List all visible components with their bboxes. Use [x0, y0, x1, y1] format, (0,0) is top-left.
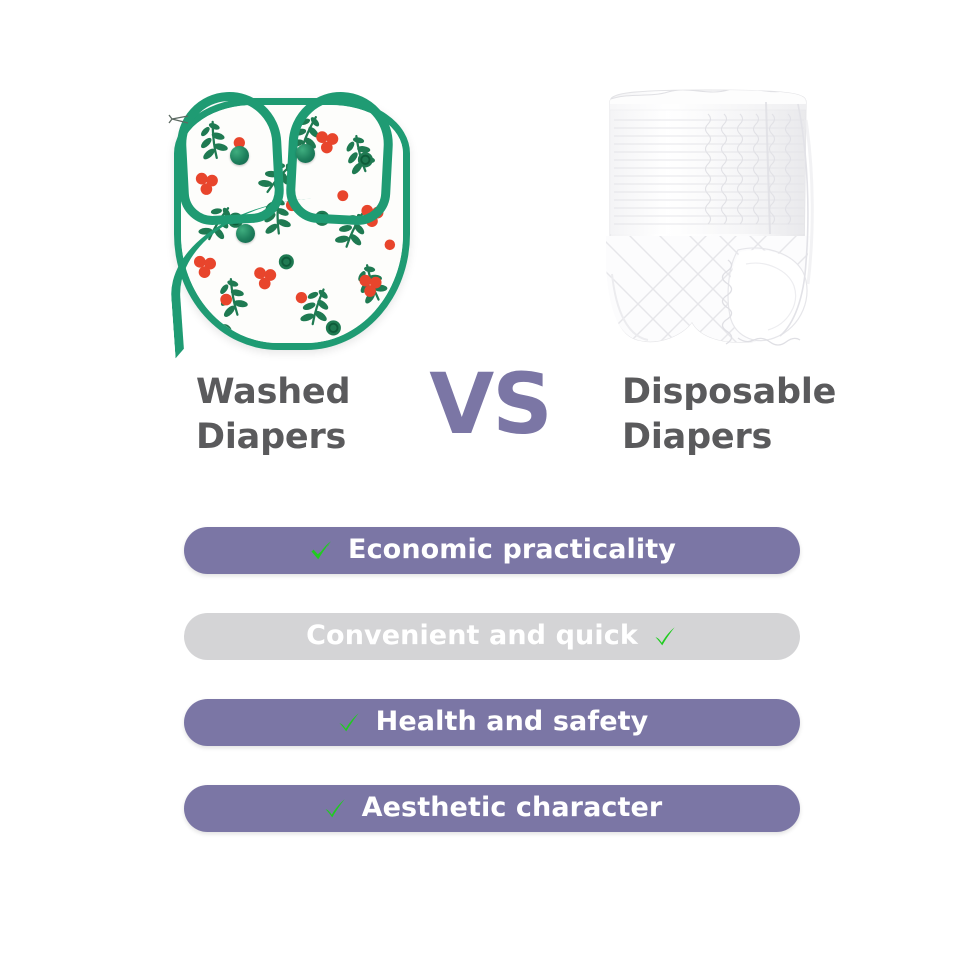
cloth-diaper-snap-button [236, 224, 255, 243]
feature-bar[interactable]: Health and safety [184, 699, 800, 746]
diaper-comparison-infographic: Washed Diapers VS Disposable Diapers Eco… [0, 0, 960, 960]
feature-bar-label: Economic practicality [348, 536, 676, 565]
feature-bar[interactable]: Aesthetic character [184, 785, 800, 832]
feature-bar[interactable]: Economic practicality [184, 527, 800, 574]
feature-bars-list: Economic practicality Convenient and qui… [184, 527, 800, 832]
cloth-diaper-image [168, 92, 416, 354]
feature-bar-label: Convenient and quick [306, 622, 638, 651]
left-product-label-line2: Diapers [196, 415, 406, 460]
cloth-diaper-care-tag [168, 114, 190, 126]
right-product-label-line2: Diapers [622, 415, 882, 460]
vs-label: VS [420, 362, 560, 446]
green-check-icon [336, 710, 362, 736]
left-product-label-line1: Washed [196, 370, 406, 415]
right-product-label: Disposable Diapers [622, 370, 882, 460]
green-check-icon [308, 538, 334, 564]
cloth-diaper-snap-button [230, 146, 249, 165]
feature-bar[interactable]: Convenient and quick [184, 613, 800, 660]
feature-bar-label: Aesthetic character [362, 794, 663, 823]
right-product-label-line1: Disposable [622, 370, 882, 415]
left-product-label: Washed Diapers [196, 370, 406, 460]
green-check-icon [652, 624, 678, 650]
comparison-labels-row: Washed Diapers VS Disposable Diapers [0, 362, 960, 474]
disposable-diaper-waistband [608, 88, 812, 234]
product-images-area [0, 0, 960, 370]
disposable-diaper-image [588, 84, 828, 352]
feature-bar-label: Health and safety [376, 708, 649, 737]
disposable-diaper-graphic [588, 84, 828, 352]
cloth-diaper-snap-button [296, 144, 315, 163]
green-check-icon [322, 796, 348, 822]
